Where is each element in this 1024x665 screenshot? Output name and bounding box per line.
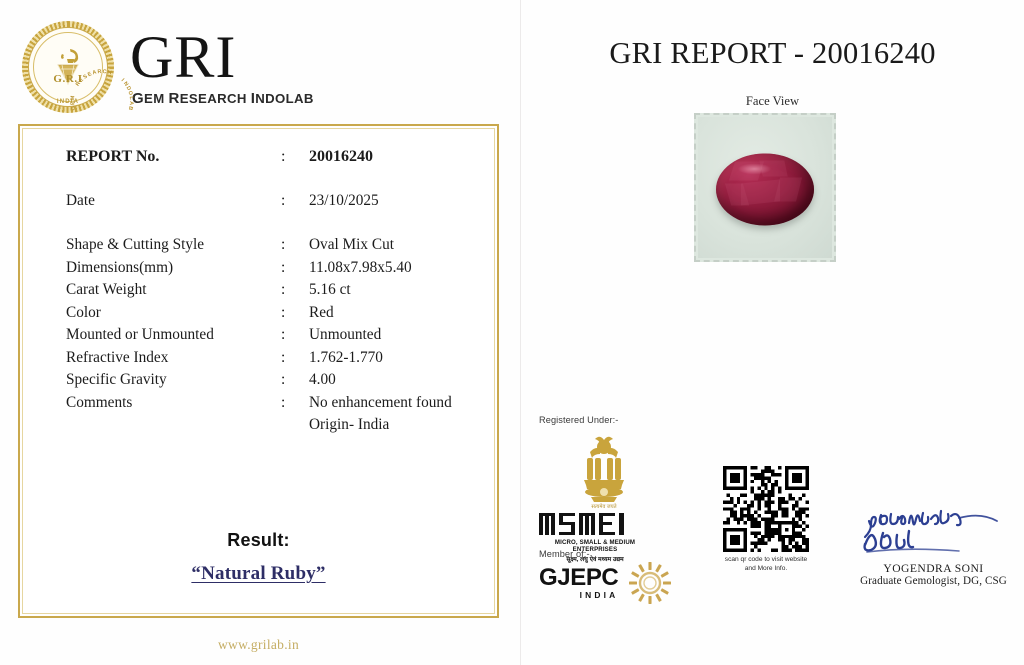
spec-separator: : [281, 304, 309, 327]
brand-text: GRI GEM RESEARCH INDOLAB [130, 27, 314, 107]
spec-key: Color [66, 304, 281, 327]
qr-code[interactable] [723, 466, 809, 552]
spec-value: Origin- India [309, 416, 452, 434]
spec-value: No enhancement found [309, 394, 452, 417]
ashoka-motto: सत्यमेव जयते [591, 503, 617, 509]
qr-caption-line1: scan qr code to visit website [711, 556, 821, 565]
spec-row: Mounted or Unmounted:Unmounted [66, 326, 452, 349]
specs-table: REPORT No.:20016240Date:23/10/2025Shape … [66, 148, 452, 434]
spec-key: Dimensions(mm) [66, 259, 281, 282]
gem-photo [698, 117, 832, 258]
msme-glyphs [539, 511, 651, 537]
spec-separator: : [281, 259, 309, 282]
spec-key: Refractive Index [66, 349, 281, 372]
spec-key: Shape & Cutting Style [66, 236, 281, 259]
gjepc-sunburst-icon [626, 561, 674, 605]
certificate-page: GEMRESEARCHINDOLAB [0, 0, 1024, 665]
qr-caption-line2: and More Info. [711, 565, 821, 574]
spec-separator: : [281, 394, 309, 417]
spec-key: REPORT No. [66, 148, 281, 192]
spec-row: Shape & Cutting Style:Oval Mix Cut [66, 236, 452, 259]
brand-acronym: GRI [130, 29, 314, 86]
spec-key: Carat Weight [66, 281, 281, 304]
gem-photo-frame [694, 113, 836, 262]
spec-key: Mounted or Unmounted [66, 326, 281, 349]
website-url[interactable]: www.grilab.in [18, 637, 499, 653]
signer-role: Graduate Gemologist, DG, CSG [851, 575, 1016, 587]
face-view-label: Face View [521, 94, 1024, 109]
brand-tagline: GEM RESEARCH INDOLAB [132, 90, 314, 107]
spec-row: Date:23/10/2025 [66, 192, 452, 236]
gjepc-logo: GJEPC INDIA [539, 561, 709, 605]
spec-row: REPORT No.:20016240 [66, 148, 452, 192]
ruby-gemstone-image [716, 153, 814, 225]
registered-under-label: Registered Under:- [539, 415, 669, 425]
seal-gri-text: G.R.I [22, 73, 114, 85]
spec-value: 20016240 [309, 148, 452, 192]
member-of-label: Member of:- [539, 549, 709, 559]
report-title: GRI REPORT - 20016240 [521, 36, 1024, 71]
spec-row: Specific Gravity:4.00 [66, 371, 452, 394]
gri-seal-logo: GEMRESEARCHINDOLAB [22, 21, 114, 113]
spec-value: Unmounted [309, 326, 452, 349]
spec-value: 11.08x7.98x5.40 [309, 259, 452, 282]
msme-wordmark [539, 511, 651, 537]
spec-row: Dimensions(mm):11.08x7.98x5.40 [66, 259, 452, 282]
spec-separator: : [281, 192, 309, 236]
gjepc-country: INDIA [539, 591, 618, 599]
spec-value: Red [309, 304, 452, 327]
spec-separator: : [281, 281, 309, 304]
report-details-box: REPORT No.:20016240Date:23/10/2025Shape … [18, 124, 499, 618]
result-value: “Natural Ruby” [20, 563, 497, 585]
left-panel: GEMRESEARCHINDOLAB [0, 0, 518, 665]
gjepc-member-block: Member of:- GJEPC INDIA [539, 549, 709, 605]
spec-key: Comments [66, 394, 281, 417]
spec-row: Refractive Index:1.762-1.770 [66, 349, 452, 372]
spec-separator [281, 416, 309, 434]
spec-value: Oval Mix Cut [309, 236, 452, 259]
spec-value: 23/10/2025 [309, 192, 452, 236]
spec-separator: : [281, 349, 309, 372]
qr-block[interactable]: scan qr code to visit website and More I… [711, 466, 821, 574]
gjepc-text: GJEPC INDIA [539, 566, 618, 599]
spec-separator: : [281, 371, 309, 394]
spec-key: Date [66, 192, 281, 236]
gjepc-wordmark: GJEPC [539, 566, 618, 590]
ashoka-emblem-icon: सत्यमेव जयते [539, 431, 669, 509]
seal-country-text: INDIA [22, 99, 114, 105]
right-panel: GRI REPORT - 20016240 Face View Register… [521, 0, 1024, 665]
result-block: Result: “Natural Ruby” [20, 530, 497, 585]
spec-key [66, 416, 281, 434]
spec-key: Specific Gravity [66, 371, 281, 394]
spec-value: 4.00 [309, 371, 452, 394]
spec-row: Color:Red [66, 304, 452, 327]
handwritten-signature [859, 505, 1009, 561]
spec-row: Origin- India [66, 416, 452, 434]
ruby-highlight [738, 163, 771, 175]
spec-value: 1.762-1.770 [309, 349, 452, 372]
qr-caption: scan qr code to visit website and More I… [711, 556, 821, 574]
spec-value: 5.16 ct [309, 281, 452, 304]
spec-row: Carat Weight:5.16 ct [66, 281, 452, 304]
signature-block: YOGENDRA SONI Graduate Gemologist, DG, C… [851, 505, 1016, 587]
signer-name: YOGENDRA SONI [851, 562, 1016, 575]
spec-separator: : [281, 236, 309, 259]
gri-logo-block: GEMRESEARCHINDOLAB [22, 22, 322, 112]
spec-separator: : [281, 326, 309, 349]
spec-row: Comments:No enhancement found [66, 394, 452, 417]
result-label: Result: [20, 530, 497, 551]
spec-separator: : [281, 148, 309, 192]
registered-under-block: Registered Under:- [539, 415, 669, 563]
